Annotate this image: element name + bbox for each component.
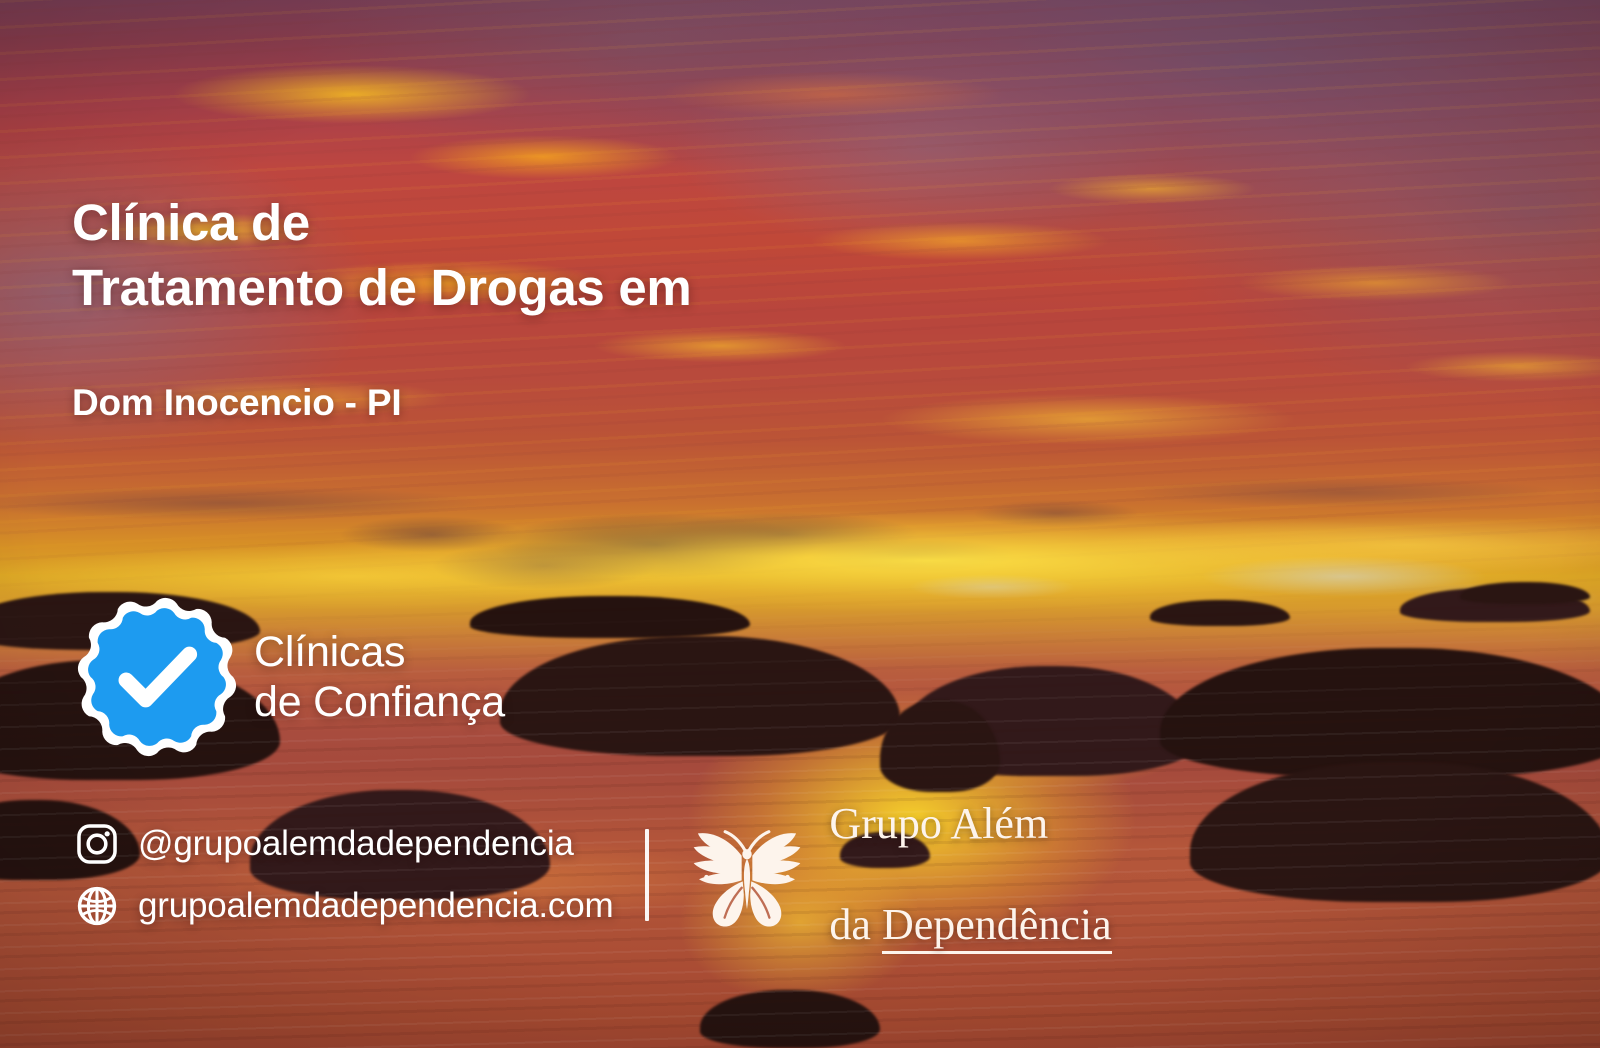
location-subtitle: Dom Inocencio - PI <box>72 382 401 424</box>
overlay-content: Clínica de Tratamento de Drogas em Dom I… <box>0 0 1600 1048</box>
trust-badge-label: Clínicas de Confiança <box>254 628 505 728</box>
vertical-divider <box>645 829 649 921</box>
brand-name-line2-prefix: da <box>829 900 882 949</box>
brand-name-line1: Grupo Além <box>829 799 1048 848</box>
butterfly-icon <box>683 811 811 939</box>
verified-check-badge-icon <box>76 596 238 758</box>
instagram-handle: @grupoalemdadependencia <box>138 824 574 864</box>
footer: @grupoalemdadependencia grupoalem <box>74 749 1112 1000</box>
brand-name: Grupo Além da Dependência <box>829 749 1111 1000</box>
instagram-icon <box>74 821 120 867</box>
contact-list: @grupoalemdadependencia grupoalem <box>74 821 613 929</box>
globe-icon <box>74 883 120 929</box>
website-url: grupoalemdadependencia.com <box>138 886 613 926</box>
brand-name-line2-underlined: Dependência <box>882 900 1112 954</box>
promotional-banner: Clínica de Tratamento de Drogas em Dom I… <box>0 0 1600 1048</box>
page-title: Clínica de Tratamento de Drogas em <box>72 190 691 321</box>
brand-logo-group[interactable]: Grupo Além da Dependência <box>683 749 1111 1000</box>
website-contact[interactable]: grupoalemdadependencia.com <box>74 883 613 929</box>
brand-name-line2: da Dependência <box>829 850 1111 950</box>
trust-badge-group: Clínicas de Confiança <box>76 596 505 758</box>
instagram-contact[interactable]: @grupoalemdadependencia <box>74 821 613 867</box>
